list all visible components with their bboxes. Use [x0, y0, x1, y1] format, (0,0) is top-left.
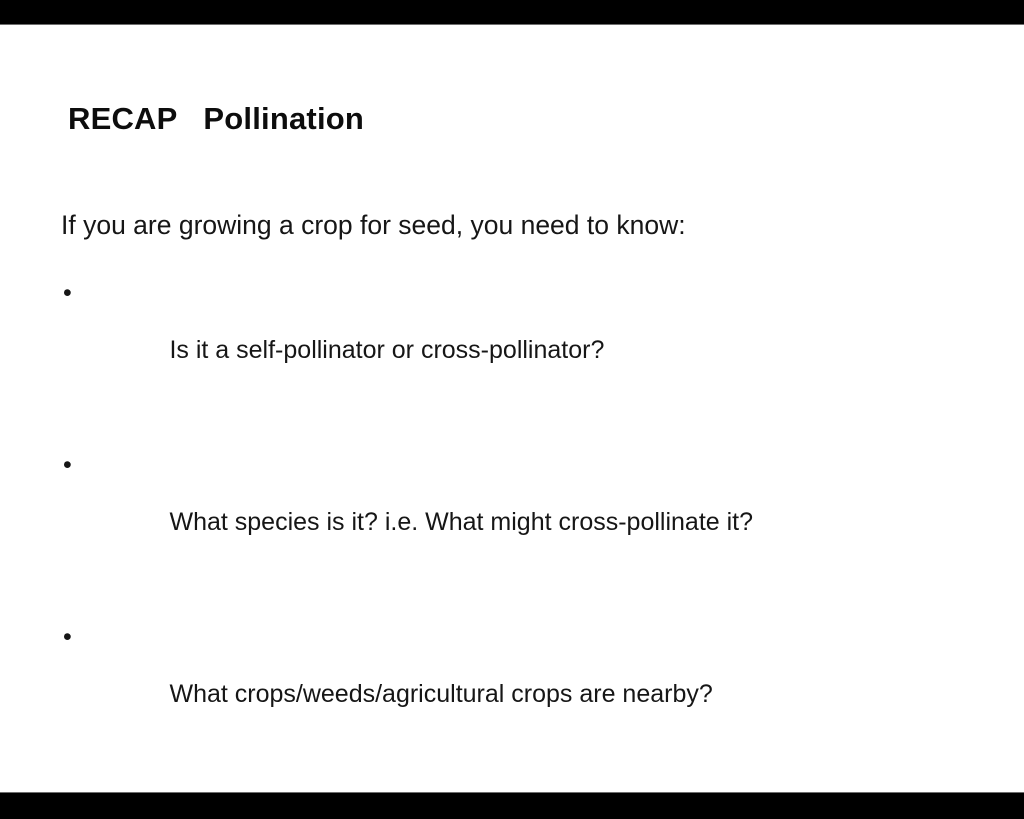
- page-title: RECAP Pollination: [68, 101, 364, 137]
- letterbox-bottom-bar: [0, 792, 1024, 819]
- list-item-label: What species is it? i.e. What might cros…: [169, 508, 753, 536]
- slide-body: If you are growing a crop for seed, you …: [61, 210, 971, 701]
- list-item-label: What crops/weeds/agricultural crops are …: [169, 680, 712, 708]
- bullet-point-icon: •: [63, 279, 72, 308]
- bullet-point-icon: •: [63, 451, 72, 480]
- slide-canvas: RECAP Pollination If you are growing a c…: [0, 25, 1024, 793]
- slide-viewport: RECAP Pollination If you are growing a c…: [0, 0, 1024, 819]
- letterbox-top-bar: [0, 0, 1024, 25]
- bullet-list: • Is it a self-pollinator or cross-polli…: [61, 279, 971, 738]
- list-item: • What crops/weeds/agricultural crops ar…: [61, 623, 971, 738]
- intro-paragraph: If you are growing a crop for seed, you …: [61, 210, 971, 242]
- list-item: • Is it a self-pollinator or cross-polli…: [61, 279, 971, 394]
- bullet-point-icon: •: [63, 623, 72, 652]
- list-item: • What species is it? i.e. What might cr…: [61, 451, 971, 566]
- list-item-label: Is it a self-pollinator or cross-pollina…: [169, 336, 604, 364]
